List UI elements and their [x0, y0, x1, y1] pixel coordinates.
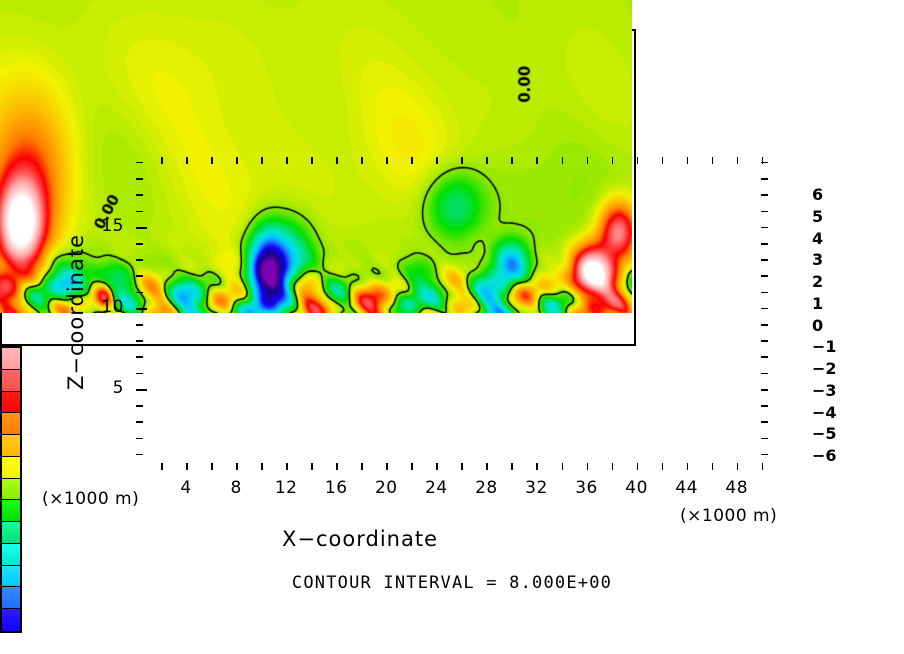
axis-tick: [587, 157, 589, 164]
axis-tick: [761, 438, 768, 440]
axis-tick: [761, 292, 768, 294]
colorbar-label-0: 6: [812, 185, 823, 204]
axis-tick: [612, 463, 614, 470]
axis-tick: [662, 463, 664, 470]
axis-tick: [761, 373, 768, 375]
axis-tick: [386, 463, 388, 470]
axis-tick: [411, 157, 413, 164]
axis-tick: [136, 389, 147, 391]
axis-tick: [761, 356, 768, 358]
x-tick-label-32: 32: [516, 478, 556, 498]
axis-tick: [136, 243, 143, 245]
colorbar-label-6: 0: [812, 316, 823, 335]
axis-tick: [136, 292, 143, 294]
axis-tick: [161, 157, 163, 164]
axis-tick: [562, 463, 564, 470]
axis-tick: [562, 157, 564, 164]
axis-tick: [761, 340, 768, 342]
axis-tick: [536, 157, 538, 164]
axis-tick: [136, 194, 143, 196]
axis-tick: [662, 157, 664, 164]
colorbar-label-3: 3: [812, 250, 823, 269]
axis-tick: [461, 463, 463, 470]
colorbar-band-6: [2, 348, 20, 370]
axis-tick: [436, 463, 438, 470]
x-tick-label-12: 12: [266, 478, 306, 498]
axis-tick: [761, 405, 768, 407]
x-tick-label-48: 48: [717, 478, 757, 498]
axis-tick: [761, 178, 768, 180]
axis-tick: [486, 463, 488, 470]
axis-tick: [761, 275, 768, 277]
axis-tick: [612, 157, 614, 164]
axis-tick: [136, 211, 143, 213]
axis-tick: [261, 157, 263, 164]
axis-tick: [136, 275, 143, 277]
axis-tick: [236, 463, 238, 470]
axis-tick: [761, 421, 768, 423]
colorbar-label-9: −3: [812, 381, 837, 400]
x-tick-label-4: 4: [166, 478, 206, 498]
axis-tick: [136, 373, 143, 375]
x-tick-label-44: 44: [667, 478, 707, 498]
axis-tick: [761, 389, 768, 391]
axis-tick: [761, 243, 768, 245]
axis-tick: [687, 463, 689, 470]
axis-tick: [136, 454, 143, 456]
x-tick-label-40: 40: [617, 478, 657, 498]
colorbar-label-12: −6: [812, 446, 837, 465]
axis-tick: [761, 227, 768, 229]
axis-tick: [161, 463, 163, 470]
axis-tick: [761, 194, 768, 196]
axis-tick: [511, 157, 513, 164]
axis-tick: [136, 405, 143, 407]
axis-tick: [261, 463, 263, 470]
axis-tick: [236, 157, 238, 164]
colorbar-label-5: 1: [812, 294, 823, 313]
axis-tick: [511, 463, 513, 470]
colorbar-band-−1: [2, 500, 20, 522]
axis-tick: [761, 308, 768, 310]
zero-contour-overlay: [0, 29, 632, 313]
colorbar-band-0: [2, 479, 20, 501]
axis-tick: [436, 157, 438, 164]
x-axis-title: X−coordinate: [0, 527, 720, 551]
axis-tick: [136, 227, 147, 229]
axis-tick: [136, 438, 143, 440]
colorbar-label-10: −4: [812, 403, 837, 422]
y-tick-label-5: 5: [84, 378, 124, 398]
axis-tick: [762, 463, 764, 470]
x-tick-label-36: 36: [567, 478, 607, 498]
x-tick-label-20: 20: [366, 478, 406, 498]
axis-tick: [712, 463, 714, 470]
colorbar-label-7: −1: [812, 337, 837, 356]
axis-tick: [361, 463, 363, 470]
x-tick-label-28: 28: [466, 478, 506, 498]
y-tick-label-15: 15: [84, 216, 124, 236]
colorbar-label-11: −5: [812, 424, 837, 443]
axis-tick: [761, 454, 768, 456]
axis-tick: [311, 157, 313, 164]
colorbar-band-5: [2, 370, 20, 392]
axis-tick: [761, 324, 768, 326]
axis-tick: [461, 157, 463, 164]
axis-tick: [712, 157, 714, 164]
colorbar-label-8: −2: [812, 359, 837, 378]
colorbar-band-4: [2, 392, 20, 414]
axis-tick: [286, 157, 288, 164]
axis-tick: [136, 178, 143, 180]
axis-tick: [336, 463, 338, 470]
colorbar-band-3: [2, 413, 20, 435]
axis-tick: [286, 463, 288, 470]
colorbar-band-−6: [2, 609, 20, 631]
axis-tick: [186, 157, 188, 164]
axis-tick: [737, 157, 739, 164]
y-axis-unit-note: (×1000 m): [42, 489, 139, 509]
y-axis-title: Z−coordinate: [64, 212, 88, 412]
x-axis-unit-note: (×1000 m): [680, 506, 777, 526]
axis-tick: [211, 463, 213, 470]
axis-tick: [637, 157, 639, 164]
axis-tick: [587, 463, 589, 470]
y-tick-label-10: 10: [84, 297, 124, 317]
x-tick-label-8: 8: [216, 478, 256, 498]
axis-tick: [311, 463, 313, 470]
axis-tick: [486, 157, 488, 164]
axis-tick: [361, 157, 363, 164]
axis-tick: [761, 211, 768, 213]
axis-tick: [411, 463, 413, 470]
axis-tick: [761, 162, 768, 164]
colorbar-label-1: 5: [812, 207, 823, 226]
colorbar-label-2: 4: [812, 229, 823, 248]
x-tick-label-16: 16: [316, 478, 356, 498]
contour-interval-caption: CONTOUR INTERVAL = 8.000E+00: [0, 573, 904, 593]
axis-tick: [336, 157, 338, 164]
axis-tick: [136, 308, 147, 310]
axis-tick: [386, 157, 388, 164]
colorbar-label-4: 2: [812, 272, 823, 291]
axis-tick: [737, 463, 739, 470]
colorbar-band-2: [2, 435, 20, 457]
axis-tick: [136, 162, 143, 164]
axis-tick: [637, 463, 639, 470]
axis-tick: [761, 259, 768, 261]
axis-tick: [136, 421, 143, 423]
axis-tick: [687, 157, 689, 164]
axis-tick: [186, 463, 188, 470]
axis-tick: [136, 340, 143, 342]
axis-tick: [136, 324, 143, 326]
colorbar-band-1: [2, 457, 20, 479]
x-tick-label-24: 24: [416, 478, 456, 498]
axis-tick: [536, 463, 538, 470]
axis-tick: [136, 356, 143, 358]
axis-tick: [136, 259, 143, 261]
axis-tick: [211, 157, 213, 164]
